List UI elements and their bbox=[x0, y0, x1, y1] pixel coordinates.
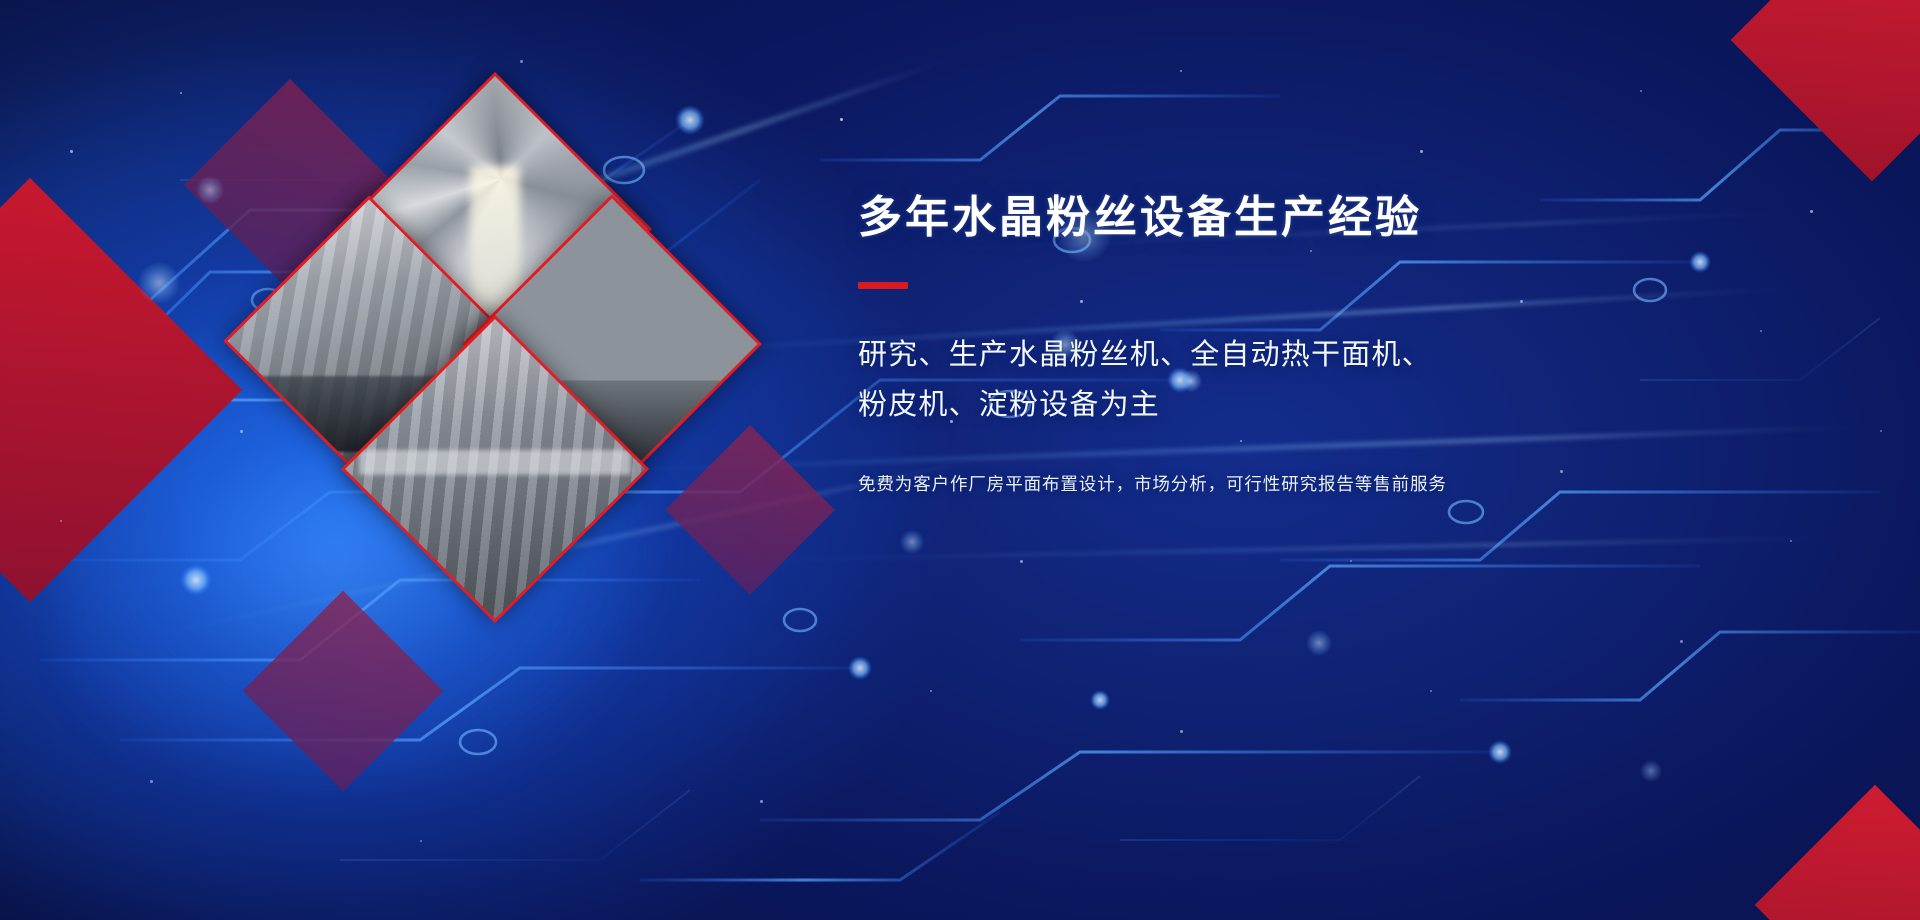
photo-diamond-cluster bbox=[258, 110, 738, 590]
subheading-line-1: 研究、生产水晶粉丝机、全自动热干面机、 bbox=[858, 331, 1858, 381]
subheading-line-2: 粉皮机、淀粉设备为主 bbox=[858, 381, 1858, 431]
hero-banner: 多年水晶粉丝设备生产经验 研究、生产水晶粉丝机、全自动热干面机、 粉皮机、淀粉设… bbox=[0, 0, 1920, 920]
banner-caption: 免费为客户作厂房平面布置设计，市场分析，可行性研究报告等售前服务 bbox=[858, 471, 1858, 496]
banner-subheading: 研究、生产水晶粉丝机、全自动热干面机、 粉皮机、淀粉设备为主 bbox=[858, 331, 1858, 431]
red-accent-bar bbox=[858, 282, 908, 289]
banner-headline: 多年水晶粉丝设备生产经验 bbox=[858, 190, 1858, 245]
banner-copy-block: 多年水晶粉丝设备生产经验 研究、生产水晶粉丝机、全自动热干面机、 粉皮机、淀粉设… bbox=[858, 190, 1858, 496]
